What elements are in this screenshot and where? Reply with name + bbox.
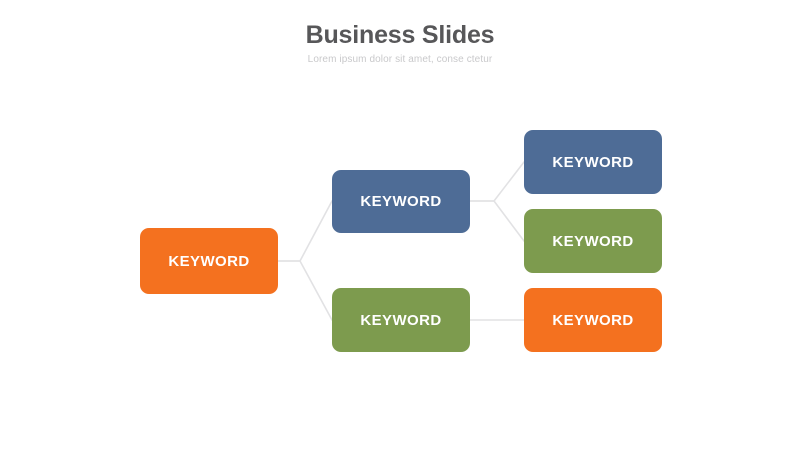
edge-root-branch-bot xyxy=(278,261,332,320)
node-leaf-2[interactable]: KEYWORD xyxy=(524,209,662,273)
node-root[interactable]: KEYWORD xyxy=(140,228,278,294)
node-leaf-1[interactable]: KEYWORD xyxy=(524,130,662,194)
edge-branch-leaf-1 xyxy=(470,162,524,201)
page-subtitle: Lorem ipsum dolor sit amet, conse ctetur xyxy=(0,53,800,67)
node-label: KEYWORD xyxy=(168,253,249,270)
node-label: KEYWORD xyxy=(360,193,441,210)
node-branch-bot[interactable]: KEYWORD xyxy=(332,288,470,352)
node-label: KEYWORD xyxy=(360,312,441,329)
slide-header: Business Slides Lorem ipsum dolor sit am… xyxy=(0,20,800,67)
slide-canvas: Business Slides Lorem ipsum dolor sit am… xyxy=(0,0,800,450)
node-leaf-3[interactable]: KEYWORD xyxy=(524,288,662,352)
edge-branch-leaf-2 xyxy=(470,201,524,241)
node-branch-top[interactable]: KEYWORD xyxy=(332,170,470,233)
edge-root-branch-top xyxy=(278,201,332,261)
node-label: KEYWORD xyxy=(552,312,633,329)
page-title: Business Slides xyxy=(0,20,800,50)
node-label: KEYWORD xyxy=(552,233,633,250)
node-label: KEYWORD xyxy=(552,154,633,171)
